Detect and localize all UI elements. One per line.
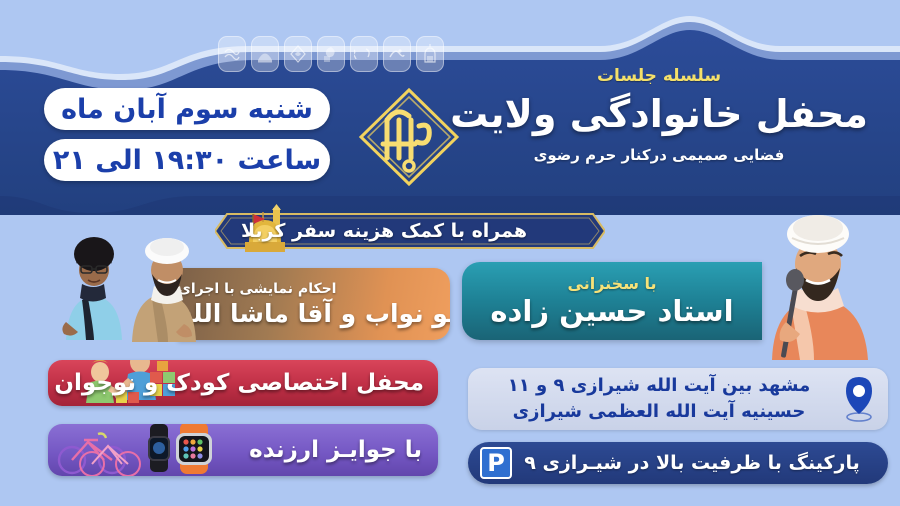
parking-text: پارکینگ با ظرفیت بالا در شیـرازی ۹: [512, 452, 872, 474]
event-kicker: سلسله جلسات: [444, 66, 874, 86]
speaker-name: استاد حسین زاده: [490, 294, 733, 328]
parking-badge-icon: P: [480, 447, 512, 479]
speaker-kicker: با سخنرانی: [568, 274, 657, 293]
program-kids-bar: محفل اختصاصی کودک و نوجوان: [48, 360, 438, 406]
location-box: مشهد بین آیت الله شیرازی ۹ و ۱۱ حسینیه آ…: [468, 368, 888, 430]
svg-text:R: R: [354, 48, 357, 63]
event-time-badge: ساعت ۱۹:۳۰ الی ۲۱: [44, 139, 330, 181]
prizes-text: با جوایـز ارزنده: [249, 437, 422, 463]
logo-research-icon: R: [350, 36, 378, 72]
title-block: سلسله جلسات محفل خانوادگی ولایت فضایی صم…: [444, 66, 874, 164]
event-subtitle: فضایی صمیمی درکنار حرم رضوی: [444, 146, 874, 164]
logo-dome-icon: [251, 36, 279, 72]
page-title: محفل خانوادگی ولایت: [444, 90, 874, 139]
poster-header: R: [0, 0, 900, 215]
logo-shrine-icon: [416, 36, 444, 72]
karbala-support-ribbon: همراه با کمک هزینه سفر کربلا: [215, 210, 605, 252]
location-lines: مشهد بین آیت الله شیرازی ۹ و ۱۱ حسینیه آ…: [482, 373, 836, 425]
sponsor-logo-strip: R: [218, 36, 444, 72]
logo-wave-icon: [218, 36, 246, 72]
location-line-1: مشهد بین آیت الله شیرازی ۹ و ۱۱: [482, 373, 836, 399]
karbala-support-text: همراه با کمک هزینه سفر کربلا: [215, 210, 605, 252]
speaker-box: با سخنرانی استاد حسین زاده: [462, 262, 762, 340]
kids-program-text: محفل اختصاصی کودک و نوجوان: [54, 370, 424, 396]
bicycle-smartwatch-art: [54, 424, 244, 476]
event-poster: R: [0, 0, 900, 506]
logo-calligraphy-icon: [383, 36, 411, 72]
performers-portrait: [48, 218, 228, 348]
event-date-badge: شنبه سوم آبان ماه: [44, 88, 330, 130]
location-pin-icon: [836, 374, 882, 424]
speaker-portrait: [748, 196, 898, 361]
program-prizes-bar: با جوایـز ارزنده: [48, 424, 438, 476]
parking-box: پارکینگ با ظرفیت بالا در شیـرازی ۹ P: [468, 442, 888, 484]
logo-ornament-icon: [284, 36, 312, 72]
location-line-2: حسینیه آیت الله العظمی شیرازی: [482, 399, 836, 425]
logo-leaf-icon: [317, 36, 345, 72]
